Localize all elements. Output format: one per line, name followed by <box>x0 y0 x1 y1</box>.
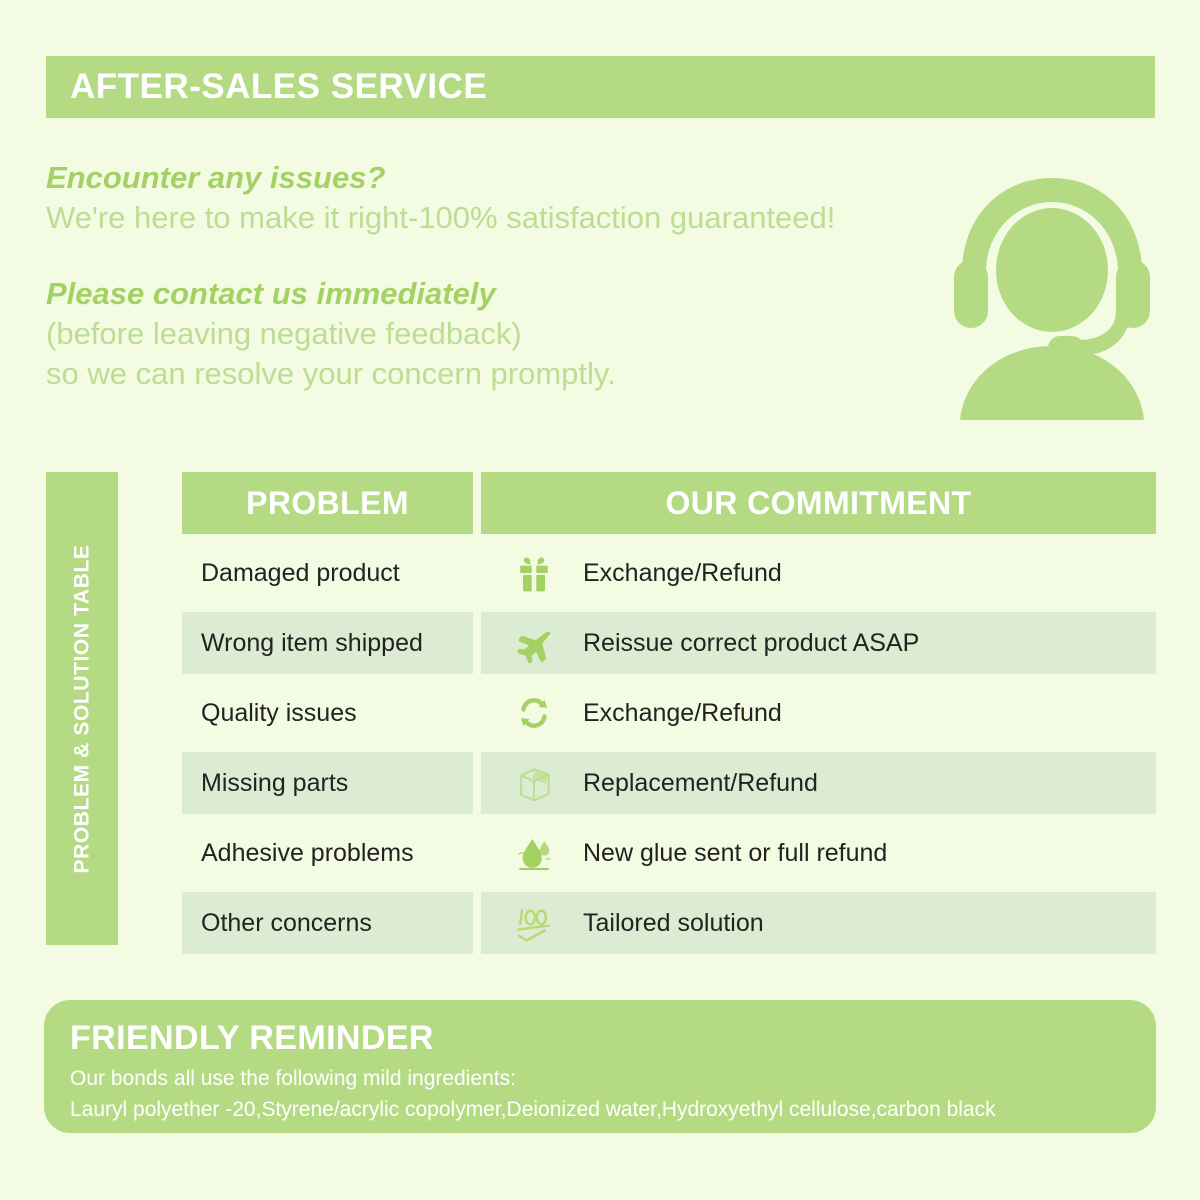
table-side-label-text: PROBLEM & SOLUTION TABLE <box>70 544 94 873</box>
intro-line-resolve: so we can resolve your concern promptly. <box>46 354 946 394</box>
headset-support-agent-icon <box>944 160 1160 420</box>
table-row: Damaged product Exchange/Refund <box>182 542 1156 604</box>
gift-box-icon <box>495 544 573 602</box>
commitment-text: Reissue correct product ASAP <box>573 629 919 658</box>
friendly-reminder-box: FRIENDLY REMINDER Our bonds all use the … <box>44 1000 1156 1133</box>
problem-solution-table: PROBLEM & SOLUTION TABLE PROBLEM OUR COM… <box>46 472 1156 950</box>
cell-problem: Other concerns <box>182 892 473 954</box>
table-header-row: PROBLEM OUR COMMITMENT <box>182 472 1156 534</box>
table-side-label: PROBLEM & SOLUTION TABLE <box>46 472 118 945</box>
table-row: Missing parts Replacement/Refund <box>182 752 1156 814</box>
cell-problem: Damaged product <box>182 542 473 604</box>
glue-droplet-icon <box>495 824 573 882</box>
intro-line-feedback: (before leaving negative feedback) <box>46 314 946 354</box>
intro-text-block: Encounter any issues? We're here to make… <box>46 158 946 394</box>
commitment-text: Tailored solution <box>573 909 764 938</box>
table-row: Quality issues Exchange/Refund <box>182 682 1156 744</box>
reminder-title: FRIENDLY REMINDER <box>70 1020 1156 1057</box>
cell-commitment: Exchange/Refund <box>481 682 1156 744</box>
commitment-text: Replacement/Refund <box>573 769 818 798</box>
table-content: PROBLEM OUR COMMITMENT Damaged product <box>182 472 1156 954</box>
table-row: Other concerns Tailored solution <box>182 892 1156 954</box>
cell-commitment: Exchange/Refund <box>481 542 1156 604</box>
page-title: AFTER-SALES SERVICE <box>46 67 487 107</box>
table-row: Adhesive problems Ne <box>182 822 1156 884</box>
cell-problem: Quality issues <box>182 682 473 744</box>
reminder-body: Our bonds all use the following mild ing… <box>70 1064 1156 1125</box>
intro-spacer <box>46 238 946 274</box>
cell-commitment: Tailored solution <box>481 892 1156 954</box>
commitment-text: Exchange/Refund <box>573 559 782 588</box>
cell-commitment: New glue sent or full refund <box>481 822 1156 884</box>
intro-heading-contact: Please contact us immediately <box>46 274 946 314</box>
score-100-icon <box>495 894 573 952</box>
cell-problem: Missing parts <box>182 752 473 814</box>
column-header-commitment: OUR COMMITMENT <box>481 472 1156 534</box>
cell-problem: Wrong item shipped <box>182 612 473 674</box>
cell-commitment: Reissue correct product ASAP <box>481 612 1156 674</box>
package-box-icon <box>495 754 573 812</box>
table-row: Wrong item shipped Reissue correct produ… <box>182 612 1156 674</box>
refresh-cycle-icon <box>495 684 573 742</box>
commitment-text: Exchange/Refund <box>573 699 782 728</box>
airplane-icon <box>495 614 573 672</box>
column-header-problem: PROBLEM <box>182 472 473 534</box>
cell-problem: Adhesive problems <box>182 822 473 884</box>
commitment-text: New glue sent or full refund <box>573 839 887 868</box>
intro-heading-issues: Encounter any issues? <box>46 158 946 198</box>
cell-commitment: Replacement/Refund <box>481 752 1156 814</box>
page-header-bar: AFTER-SALES SERVICE <box>46 56 1155 118</box>
intro-line-guarantee: We're here to make it right-100% satisfa… <box>46 198 946 238</box>
reminder-ingredients-intro: Our bonds all use the following mild ing… <box>70 1064 1156 1094</box>
reminder-ingredients-list: Lauryl polyether -20,Styrene/acrylic cop… <box>70 1095 1156 1125</box>
